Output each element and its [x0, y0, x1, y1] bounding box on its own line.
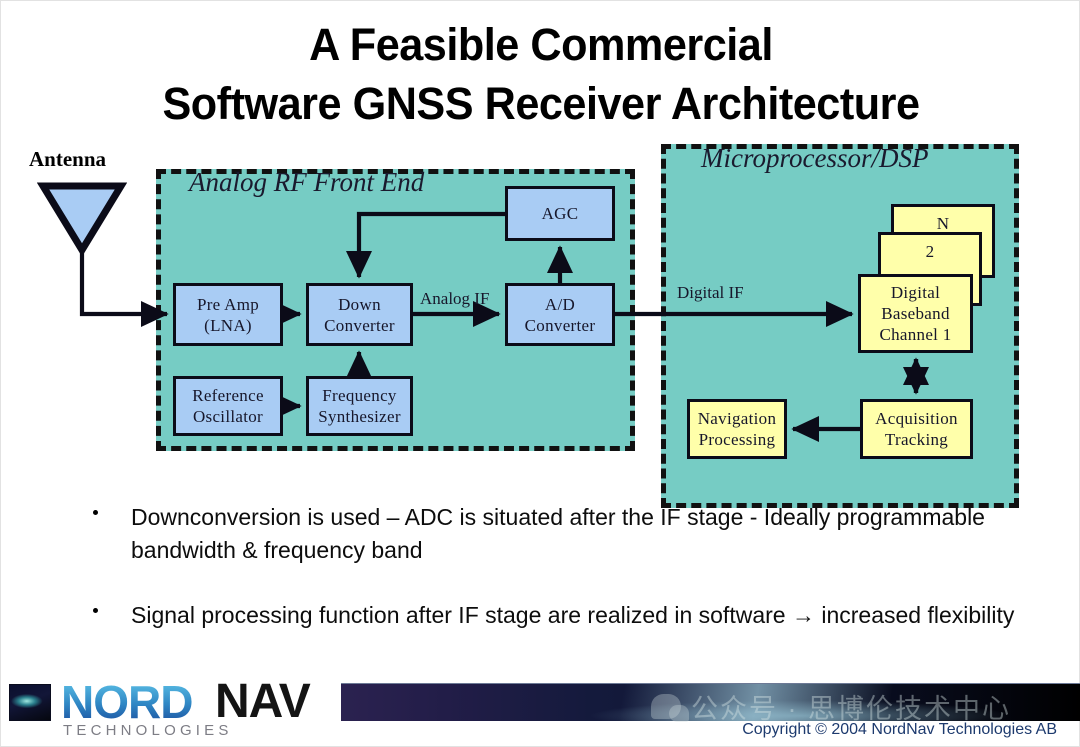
block-agc-label: AGC	[542, 203, 579, 224]
copyright-text: Copyright © 2004 NordNav Technologies AB	[742, 721, 1057, 739]
architecture-diagram: Antenna Analog RF Front End Microprocess…	[1, 131, 1080, 506]
block-frequency-synthesizer[interactable]: Frequency Synthesizer	[306, 376, 413, 436]
bullet-item-1: Downconversion is used – ADC is situated…	[89, 501, 1019, 567]
block-down-converter-line-2: Converter	[324, 315, 395, 336]
page-title: A Feasible Commercial Software GNSS Rece…	[23, 15, 1060, 133]
bullet-dot-icon	[93, 608, 98, 613]
block-down-converter-line-1: Down	[338, 294, 381, 315]
block-ad-converter-line-1: A/D	[545, 294, 575, 315]
edge-label-digital-if: Digital IF	[677, 283, 744, 303]
block-digital-baseband-channel-1[interactable]: Digital Baseband Channel 1	[858, 274, 973, 353]
logo-nord-text: NORD	[61, 679, 192, 725]
block-agc[interactable]: AGC	[505, 186, 615, 241]
bullet-list: Downconversion is used – ADC is situated…	[89, 501, 1019, 664]
block-channel-1-line-3: Channel 1	[879, 324, 951, 345]
edge-label-analog-if: Analog IF	[420, 289, 489, 309]
block-acquisition-line-1: Acquisition	[875, 408, 958, 429]
block-navigation-line-1: Navigation	[698, 408, 777, 429]
block-acquisition-line-2: Tracking	[885, 429, 948, 450]
block-channel-1-line-2: Baseband	[881, 303, 950, 324]
bullet-text-1: Downconversion is used – ADC is situated…	[131, 504, 985, 563]
block-ad-converter-line-2: Converter	[525, 315, 596, 336]
block-acquisition-tracking[interactable]: Acquisition Tracking	[860, 399, 973, 459]
block-channel-2-label: 2	[926, 241, 935, 262]
block-reference-oscillator-line-2: Oscillator	[193, 406, 263, 427]
block-ad-converter[interactable]: A/D Converter	[505, 283, 615, 346]
bullet-dot-icon	[93, 510, 98, 515]
block-frequency-synthesizer-line-1: Frequency	[322, 385, 396, 406]
block-navigation-processing[interactable]: Navigation Processing	[687, 399, 787, 459]
bullet-item-2: Signal processing function after IF stag…	[89, 599, 1019, 632]
slide-canvas: A Feasible Commercial Software GNSS Rece…	[0, 0, 1080, 747]
block-down-converter[interactable]: Down Converter	[306, 283, 413, 346]
logo-technologies-text: TECHNOLOGIES	[63, 722, 233, 739]
block-reference-oscillator[interactable]: Reference Oscillator	[173, 376, 283, 436]
block-reference-oscillator-line-1: Reference	[192, 385, 264, 406]
block-pre-amp-line-1: Pre Amp	[197, 294, 259, 315]
block-channel-1-line-1: Digital	[891, 282, 940, 303]
footer-aurora-banner	[341, 683, 1080, 721]
logo-nav-text: NAV	[215, 678, 310, 726]
bullet-text-2: Signal processing function after IF stag…	[131, 602, 1014, 628]
block-pre-amp[interactable]: Pre Amp (LNA)	[173, 283, 283, 346]
aurora-thumbnail-image	[9, 684, 51, 721]
block-pre-amp-line-2: (LNA)	[204, 315, 252, 336]
block-navigation-line-2: Processing	[699, 429, 776, 450]
title-line-1: A Feasible Commercial	[309, 19, 773, 70]
block-channel-n-label: N	[937, 213, 950, 234]
title-line-2: Software GNSS Receiver Architecture	[23, 74, 1060, 133]
block-frequency-synthesizer-line-2: Synthesizer	[318, 406, 401, 427]
